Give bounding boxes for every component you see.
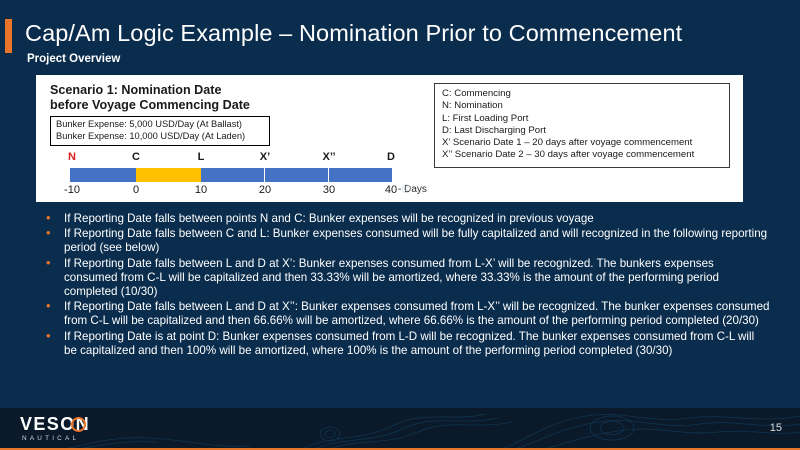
timeline-divider-x2 <box>328 168 329 182</box>
timeline-bar <box>70 168 392 182</box>
legend-line: L: First Loading Port <box>442 113 722 125</box>
slide: Cap/Am Logic Example – Nomination Prior … <box>0 0 800 450</box>
axis-tick: 10 <box>195 184 207 196</box>
timeline-marker-n: N <box>68 151 76 163</box>
title-accent-bar <box>5 19 12 53</box>
timeline-marker-c: C <box>132 151 140 163</box>
veson-nautical-logo: VESON NAUTICAL <box>20 414 140 442</box>
timeline-marker-x2: X’’ <box>322 151 335 163</box>
timeline-segment-laden <box>136 168 201 182</box>
list-item: If Reporting Date falls between L and D … <box>40 257 770 300</box>
axis-tick: 20 <box>259 184 271 196</box>
scenario-title-line-2: before Voyage Commencing Date <box>50 98 350 113</box>
legend-line: N: Nomination <box>442 100 722 112</box>
timeline-point-labels: N C L X’ X’’ D <box>50 151 430 165</box>
list-item: If Reporting Date falls between points N… <box>40 212 770 226</box>
timeline-divider-x1 <box>264 168 265 182</box>
list-item: If Reporting Date falls between C and L:… <box>40 227 770 255</box>
timeline-marker-l: L <box>198 151 205 163</box>
axis-tick: -10 <box>64 184 80 196</box>
expense-line: Bunker Expense: 10,000 USD/Day (At Laden… <box>56 131 264 143</box>
timeline-marker-d: D <box>387 151 395 163</box>
timeline-axis: -10 0 10 20 30 40 - Days <box>50 184 430 198</box>
legend-box: C: Commencing N: Nomination L: First Loa… <box>434 83 730 168</box>
slide-footer: VESON NAUTICAL 15 <box>0 408 800 450</box>
legend-line: D: Last Discharging Port <box>442 125 722 137</box>
axis-tick: 30 <box>323 184 335 196</box>
legend-line: X’’ Scenario Date 2 – 30 days after voya… <box>442 149 722 161</box>
page-number: 15 <box>770 422 782 434</box>
expense-line: Bunker Expense: 5,000 USD/Day (At Ballas… <box>56 119 264 131</box>
bunker-expense-box: Bunker Expense: 5,000 USD/Day (At Ballas… <box>50 116 270 146</box>
list-item: If Reporting Date falls between L and D … <box>40 300 770 328</box>
scenario-title-line-1: Scenario 1: Nomination Date <box>50 83 350 98</box>
list-item: If Reporting Date is at point D: Bunker … <box>40 330 770 358</box>
axis-unit-label: - Days <box>398 184 427 195</box>
page-subtitle: Project Overview <box>27 53 120 65</box>
voyage-timeline-chart: N C L X’ X’’ D -10 0 10 20 30 40 - Days <box>50 151 430 197</box>
bullet-list: If Reporting Date falls between points N… <box>40 212 770 359</box>
axis-tick: 0 <box>133 184 139 196</box>
axis-tick: 40 <box>385 184 397 196</box>
logo-subtext: NAUTICAL <box>22 435 140 442</box>
scenario-title: Scenario 1: Nomination Date before Voyag… <box>50 83 350 113</box>
timeline-marker-x1: X’ <box>260 151 270 163</box>
diagram-card: Scenario 1: Nomination Date before Voyag… <box>36 75 743 202</box>
page-title: Cap/Am Logic Example – Nomination Prior … <box>25 20 785 47</box>
legend-line: C: Commencing <box>442 88 722 100</box>
legend-line: X’ Scenario Date 1 – 20 days after voyag… <box>442 137 722 149</box>
